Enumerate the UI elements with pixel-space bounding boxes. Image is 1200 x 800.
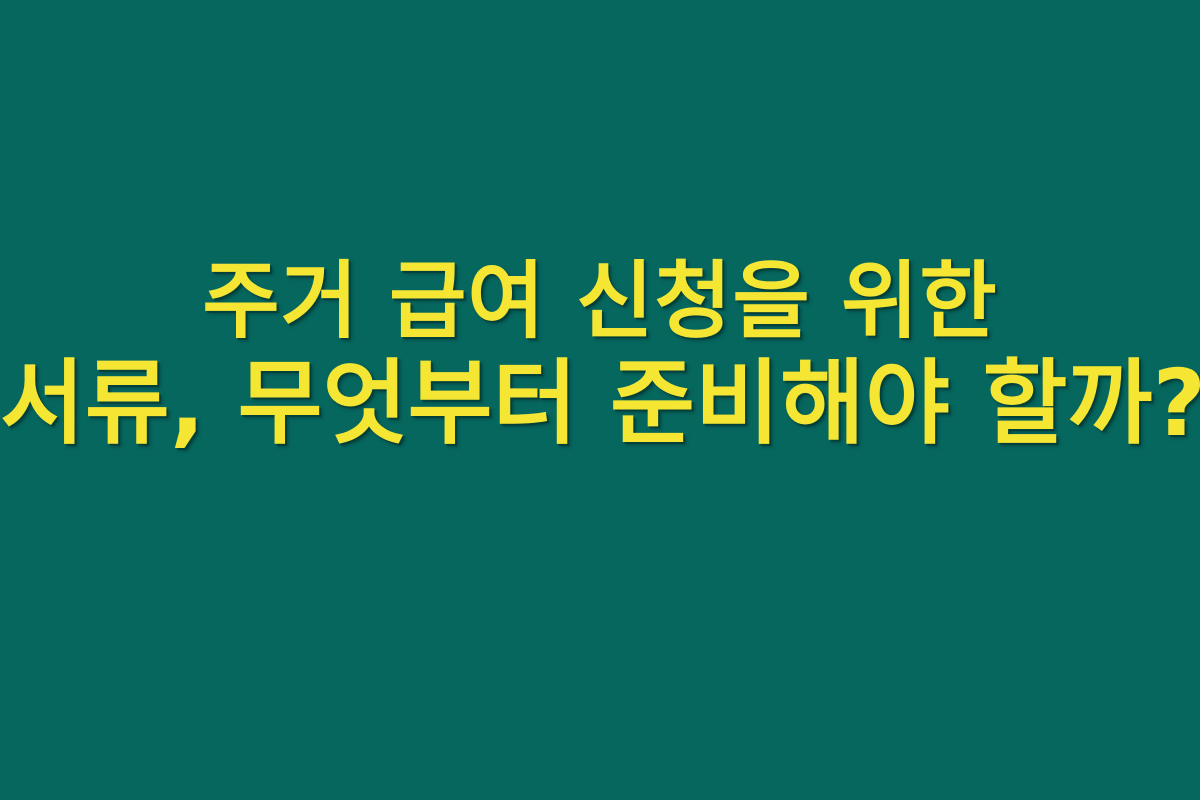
- headline-line-1: 주거 급여 신청을 위한: [0, 259, 1200, 345]
- headline-block: 주거 급여 신청을 위한 서류, 무엇부터 준비해야 할까?: [0, 0, 1200, 800]
- headline-line-2: 서류, 무엇부터 준비해야 할까?: [0, 357, 1200, 451]
- thumbnail-canvas: 주거 급여 신청을 위한 서류, 무엇부터 준비해야 할까?: [0, 0, 1200, 800]
